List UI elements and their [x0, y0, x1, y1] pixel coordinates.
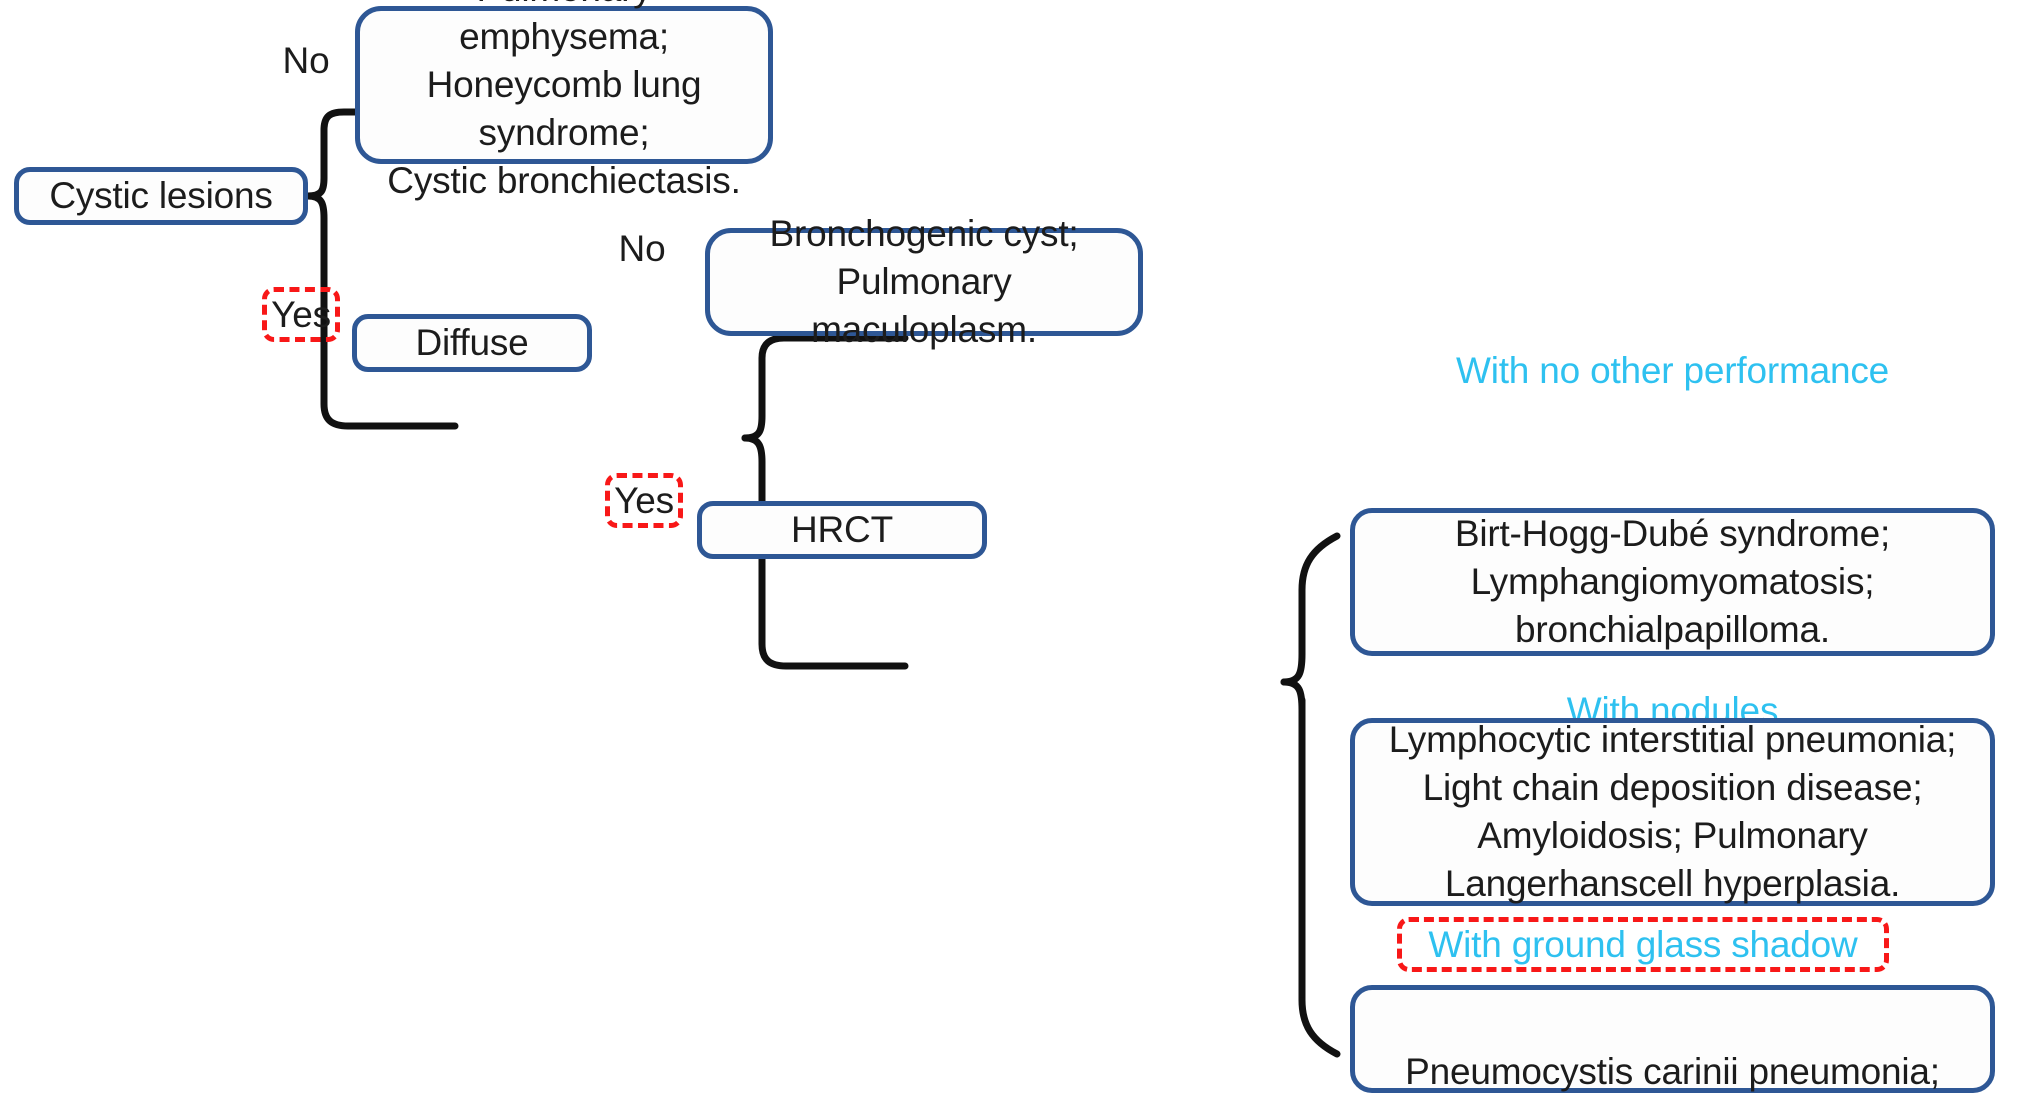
node-hrct-ground-glass-line-1: Pneumocystis carinii pneumonia; [1369, 1048, 1976, 1096]
branch-label-no-2: No [600, 228, 684, 270]
node-cystic-lesions[interactable]: Cystic lesions [14, 167, 308, 225]
node-hrct-no-other-performance[interactable]: Birt-Hogg-Dubé syndrome; Lymphangiomyoma… [1350, 508, 1995, 656]
node-cystic-lesions-label: Cystic lesions [49, 172, 272, 220]
badge-yes-2-label: Yes [614, 480, 674, 522]
node-no-2-outcome-label: Bronchogenic cyst; Pulmonary maculoplasm… [724, 210, 1124, 354]
badge-yes-2[interactable]: Yes [605, 473, 683, 528]
node-hrct-with-nodules[interactable]: Lymphocytic interstitial pneumonia; Ligh… [1350, 718, 1995, 906]
node-hrct-label: HRCT [791, 506, 893, 554]
label-with-ground-glass-shadow[interactable]: With ground glass shadow [1397, 917, 1889, 972]
node-diffuse[interactable]: Diffuse [352, 314, 592, 372]
node-diffuse-label: Diffuse [415, 319, 528, 367]
node-no-2-outcome[interactable]: Bronchogenic cyst; Pulmonary maculoplasm… [705, 228, 1143, 336]
node-hrct-with-nodules-label: Lymphocytic interstitial pneumonia; Ligh… [1389, 716, 1956, 908]
branch-label-no-1: No [264, 40, 348, 82]
label-with-ground-glass-shadow-text: With ground glass shadow [1428, 924, 1857, 966]
node-no-1-outcome-label: Pulmonary emphysema; Honeycomb lung synd… [374, 0, 754, 205]
badge-yes-1[interactable]: Yes [262, 287, 340, 342]
badge-yes-1-label: Yes [271, 294, 331, 336]
node-hrct-ground-glass[interactable]: Pneumocystis carinii pneumonia; Desquama… [1350, 985, 1995, 1093]
node-hrct-no-other-performance-label: Birt-Hogg-Dubé syndrome; Lymphangiomyoma… [1455, 510, 1890, 654]
node-no-1-outcome[interactable]: Pulmonary emphysema; Honeycomb lung synd… [355, 6, 773, 164]
node-hrct[interactable]: HRCT [697, 501, 987, 559]
flowchart-canvas: Cystic lesions No Pulmonary emphysema; H… [0, 0, 2032, 1101]
label-with-no-other-performance: With no other performance [1350, 350, 1995, 392]
